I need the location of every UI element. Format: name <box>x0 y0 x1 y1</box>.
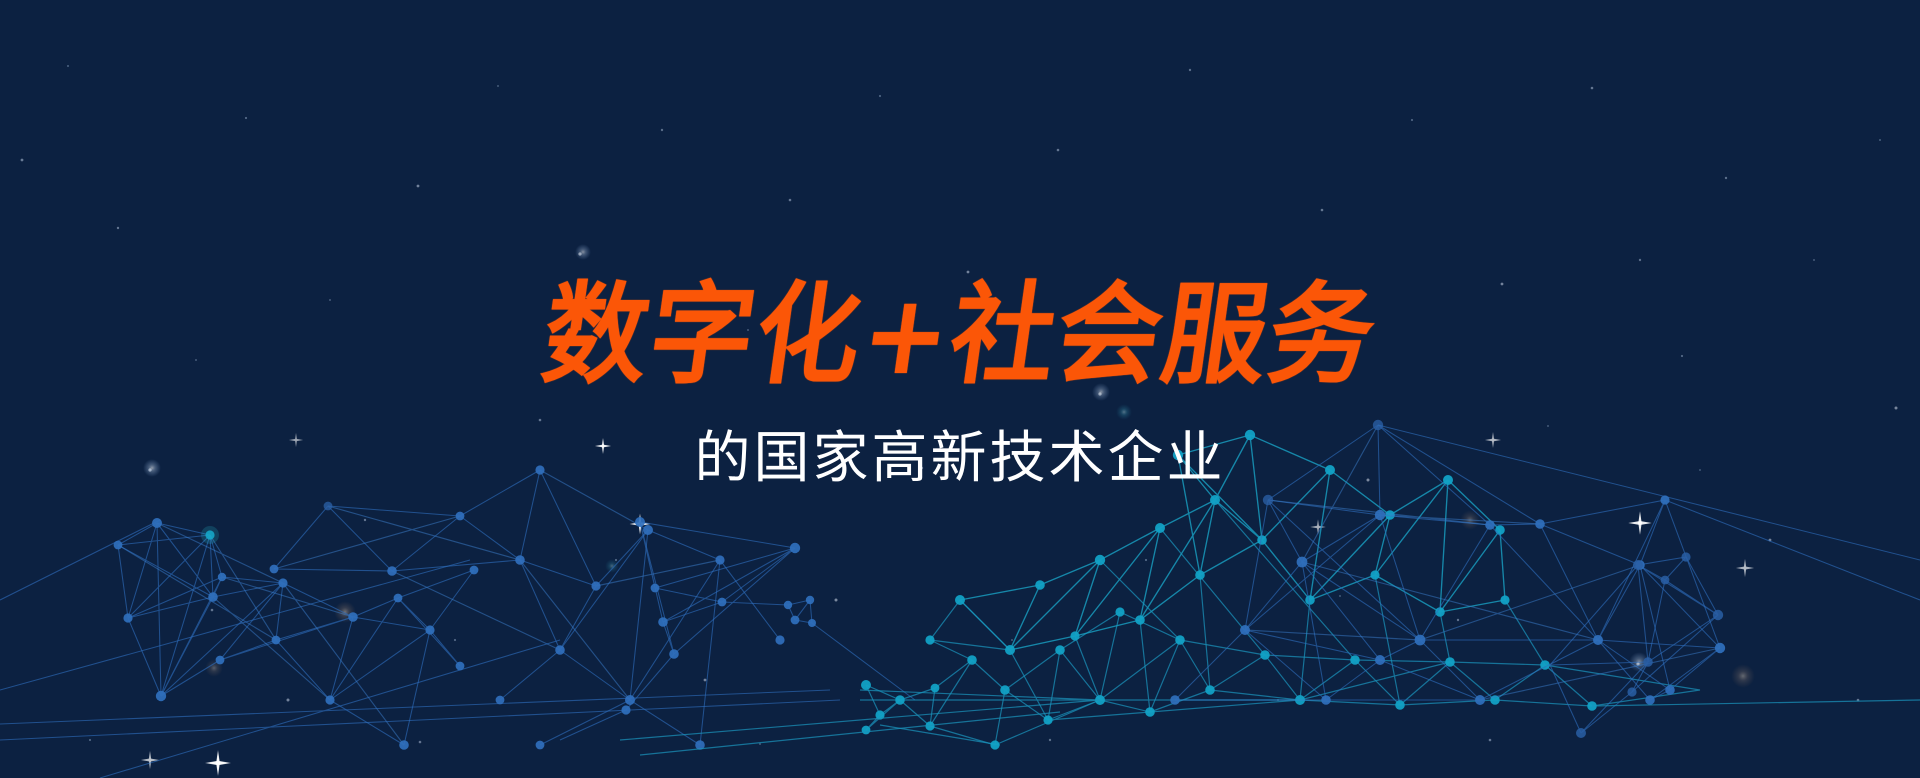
polygon-network-far-right <box>1550 552 1723 738</box>
polygon-network-center-kite <box>560 517 915 740</box>
polygon-network-graphic: .lnB { stroke:#2f6fbe; stroke-width:1.05… <box>0 0 1920 778</box>
polygon-network-dense-center <box>860 430 1700 750</box>
polygon-network-left <box>114 518 479 750</box>
polygon-network-mid-left <box>270 465 785 749</box>
banner-canvas: .lnB { stroke:#2f6fbe; stroke-width:1.05… <box>0 0 1920 778</box>
